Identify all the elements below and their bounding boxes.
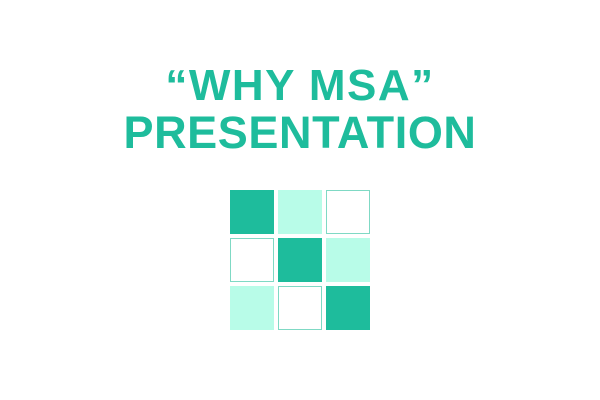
grid-cell-r1-c3 — [326, 190, 370, 234]
decorative-grid — [230, 190, 370, 329]
grid-cell-r1-c1 — [230, 190, 274, 234]
title-line-secondary: PRESENTATION — [0, 109, 600, 156]
grid-cell-r3-c3 — [326, 286, 370, 330]
page-title: “WHY MSA” PRESENTATION — [0, 62, 600, 156]
grid-cell-r3-c2 — [278, 286, 322, 330]
grid-cell-r2-c2 — [278, 238, 322, 282]
grid-cell-r2-c3 — [326, 238, 370, 282]
title-line-primary: “WHY MSA” — [0, 62, 600, 109]
grid-cell-r3-c1 — [230, 286, 274, 330]
presentation-title-slide: “WHY MSA” PRESENTATION — [0, 0, 600, 400]
decorative-grid-inner — [230, 190, 370, 330]
grid-cell-r1-c2 — [278, 190, 322, 234]
grid-cell-r2-c1 — [230, 238, 274, 282]
